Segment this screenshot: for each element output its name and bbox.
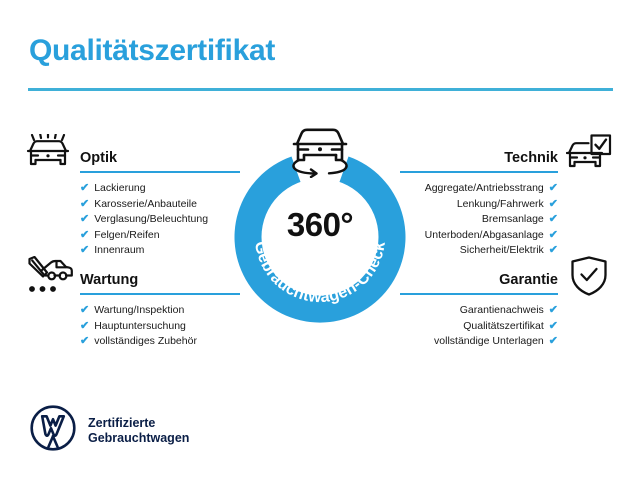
section-garantie-divider — [400, 293, 558, 296]
list-item-label: Innenraum — [94, 243, 144, 259]
section-optik-list: ✔Lackierung ✔Karosserie/Anbauteile ✔Verg… — [80, 181, 240, 259]
footer-line-2: Gebrauchtwagen — [88, 431, 189, 446]
list-item-label: Verglasung/Beleuchtung — [94, 212, 208, 228]
car-shine-icon — [26, 134, 70, 177]
section-garantie-header: Garantie — [400, 266, 558, 292]
list-item: Sicherheit/Elektrik✔ — [400, 243, 558, 259]
section-wartung: Wartung ✔Wartung/Inspektion ✔Hauptunters… — [80, 266, 240, 350]
list-item-label: Sicherheit/Elektrik — [460, 243, 544, 259]
list-item: ✔Hauptuntersuchung — [80, 319, 240, 335]
section-optik-header: Optik — [80, 144, 240, 170]
section-technik-title: Technik — [504, 150, 558, 166]
section-optik-title: Optik — [80, 150, 117, 166]
shield-check-icon — [570, 256, 608, 301]
section-garantie-list: Garantienachweis✔ Qualitätszertifikat✔ v… — [400, 303, 558, 350]
badge-degrees: 360° — [231, 206, 409, 244]
list-item-label: Garantienachweis — [460, 303, 544, 319]
list-item-label: Hauptuntersuchung — [94, 319, 186, 335]
check-icon: ✔ — [80, 336, 89, 347]
quality-certificate-page: Qualitätszertifikat Optik ✔Lackierung ✔K… — [0, 0, 640, 480]
list-item: ✔Wartung/Inspektion — [80, 303, 240, 319]
list-item: ✔Felgen/Reifen — [80, 228, 240, 244]
section-technik-divider — [400, 171, 558, 174]
title-divider — [28, 88, 613, 91]
vw-logo-icon — [30, 405, 76, 456]
check-icon: ✔ — [549, 199, 558, 210]
check-icon: ✔ — [80, 321, 89, 332]
list-item-label: Aggregate/Antriebsstrang — [425, 181, 544, 197]
check-icon: ✔ — [549, 214, 558, 225]
check-icon: ✔ — [549, 230, 558, 241]
section-wartung-title: Wartung — [80, 272, 138, 288]
section-wartung-header: Wartung — [80, 266, 240, 292]
check-icon: ✔ — [549, 245, 558, 256]
list-item: vollständige Unterlagen✔ — [400, 334, 558, 350]
list-item-label: Karosserie/Anbauteile — [94, 197, 197, 213]
car-rotate-icon — [285, 122, 355, 178]
car-checkbox-icon — [566, 134, 612, 179]
check-icon: ✔ — [80, 183, 89, 194]
check-icon: ✔ — [80, 214, 89, 225]
section-wartung-list: ✔Wartung/Inspektion ✔Hauptuntersuchung ✔… — [80, 303, 240, 350]
section-wartung-divider — [80, 293, 240, 296]
section-garantie: Garantie Garantienachweis✔ Qualitätszert… — [400, 266, 558, 350]
list-item: Bremsanlage✔ — [400, 212, 558, 228]
list-item-label: Felgen/Reifen — [94, 228, 159, 244]
list-item: Qualitätszertifikat✔ — [400, 319, 558, 335]
list-item-label: Qualitätszertifikat — [463, 319, 544, 335]
section-technik-header: Technik — [400, 144, 558, 170]
check-icon: ✔ — [549, 183, 558, 194]
list-item: Lenkung/Fahrwerk✔ — [400, 197, 558, 213]
list-item-label: Lenkung/Fahrwerk — [457, 197, 544, 213]
section-garantie-title: Garantie — [499, 272, 558, 288]
section-optik: Optik ✔Lackierung ✔Karosserie/Anbauteile… — [80, 144, 240, 259]
list-item: ✔Karosserie/Anbauteile — [80, 197, 240, 213]
footer-brand: Zertifizierte Gebrauchtwagen — [30, 405, 189, 456]
check-icon: ✔ — [80, 230, 89, 241]
section-optik-divider — [80, 171, 240, 174]
check-icon: ✔ — [80, 199, 89, 210]
footer-brand-text: Zertifizierte Gebrauchtwagen — [88, 416, 189, 446]
check-icon: ✔ — [549, 305, 558, 316]
check-icon: ✔ — [549, 336, 558, 347]
check-icon: ✔ — [80, 305, 89, 316]
footer-line-1: Zertifizierte — [88, 416, 189, 431]
list-item: ✔vollständiges Zubehör — [80, 334, 240, 350]
list-item-label: Wartung/Inspektion — [94, 303, 184, 319]
list-item-label: Lackierung — [94, 181, 145, 197]
list-item: ✔Lackierung — [80, 181, 240, 197]
section-technik-list: Aggregate/Antriebsstrang✔ Lenkung/Fahrwe… — [400, 181, 558, 259]
list-item: ✔Innenraum — [80, 243, 240, 259]
list-item: Garantienachweis✔ — [400, 303, 558, 319]
check-icon: ✔ — [549, 321, 558, 332]
check-icon: ✔ — [80, 245, 89, 256]
list-item-label: Unterboden/Abgasanlage — [425, 228, 544, 244]
list-item-label: Bremsanlage — [482, 212, 544, 228]
list-item: Aggregate/Antriebsstrang✔ — [400, 181, 558, 197]
page-title: Qualitätszertifikat — [29, 34, 275, 68]
list-item-label: vollständiges Zubehör — [94, 334, 197, 350]
car-service-pen-icon — [26, 256, 74, 301]
section-technik: Technik Aggregate/Antriebsstrang✔ Lenkun… — [400, 144, 558, 259]
list-item: Unterboden/Abgasanlage✔ — [400, 228, 558, 244]
list-item: ✔Verglasung/Beleuchtung — [80, 212, 240, 228]
list-item-label: vollständige Unterlagen — [434, 334, 544, 350]
